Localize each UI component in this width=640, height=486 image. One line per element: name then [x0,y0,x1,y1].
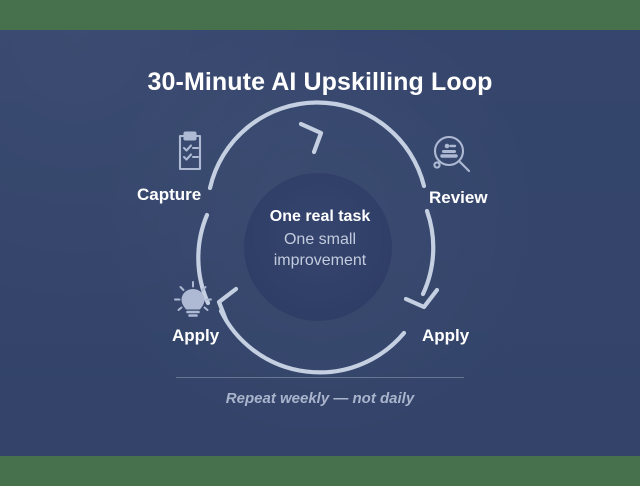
arrowhead-bottom-left [219,289,236,320]
arc-capture-to-review [210,102,424,188]
node-label-review: Review [429,188,488,208]
bottom-accent-band [0,456,640,486]
center-secondary-text: One small improvement [245,229,395,271]
arc-review-to-apply-right [423,211,433,294]
footer-divider [176,377,464,378]
top-accent-band [0,0,640,30]
footer-note: Repeat weekly — not daily [0,390,640,407]
arrowhead-bottom-right [406,290,437,307]
node-label-capture: Capture [137,185,201,205]
center-text-block: One real task One small improvement [245,206,395,271]
node-label-apply-left: Apply [172,326,219,346]
lightbulb-idea-icon [170,279,216,325]
arrowhead-top [301,124,321,152]
slide-canvas: 30-Minute AI Upskilling Loop [0,0,640,486]
clipboard-checklist-icon [167,129,213,175]
center-primary-text: One real task [245,206,395,227]
magnifier-document-icon [429,132,475,178]
arc-apply-right-to-apply-left [221,311,404,372]
node-label-apply-right: Apply [422,326,469,346]
page-title: 30-Minute AI Upskilling Loop [0,68,640,97]
